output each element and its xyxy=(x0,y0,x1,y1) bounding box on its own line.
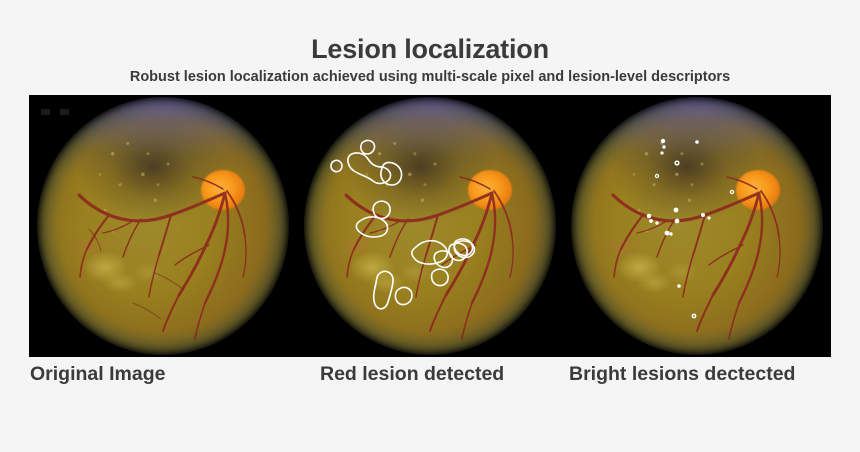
fundus-image-bright-lesions xyxy=(571,97,823,355)
retinal-vessel-tree xyxy=(571,97,823,355)
caption-bright-lesions-detected: Bright lesions dectected xyxy=(569,362,795,386)
caption-original-image: Original Image xyxy=(30,362,165,386)
fundus-image-original xyxy=(37,97,289,355)
retinal-vessel-tree xyxy=(304,97,556,355)
image-strip xyxy=(29,95,831,357)
panel-bright-lesions-detected xyxy=(564,95,831,357)
retinal-vessel-tree xyxy=(37,97,289,355)
panel-red-lesion-detected xyxy=(296,95,563,357)
caption-red-lesion-detected: Red lesion detected xyxy=(320,362,504,386)
title-block: Lesion localization Robust lesion locali… xyxy=(0,33,860,86)
fundus-image-red-lesions xyxy=(304,97,556,355)
lesion-localization-figure: Lesion localization Robust lesion locali… xyxy=(0,0,860,452)
panel-captions: Original Image Red lesion detected Brigh… xyxy=(0,362,860,392)
page-subtitle: Robust lesion localization achieved usin… xyxy=(0,68,860,86)
page-title: Lesion localization xyxy=(0,33,860,65)
panel-original-image xyxy=(29,95,296,357)
